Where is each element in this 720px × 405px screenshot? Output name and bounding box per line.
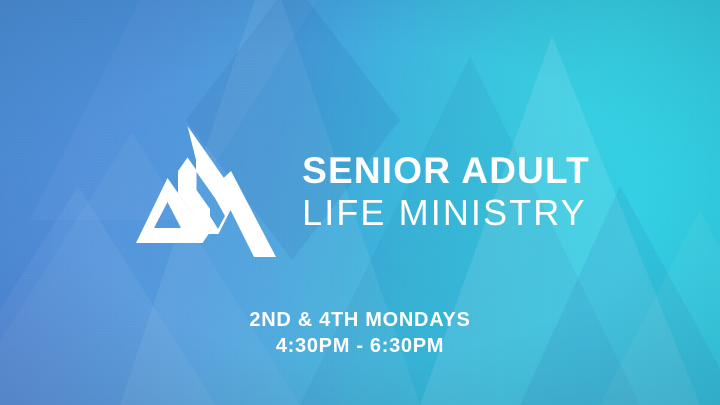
wordmark-line-life-ministry: LIFE MINISTRY: [302, 193, 590, 233]
logo-lockup: SENIOR ADULT LIFE MINISTRY: [0, 124, 720, 260]
schedule-time: 4:30PM - 6:30PM: [0, 334, 720, 360]
slide-content: SENIOR ADULT LIFE MINISTRY 2ND & 4TH MON…: [0, 0, 720, 405]
schedule-block: 2ND & 4TH MONDAYS 4:30PM - 6:30PM: [0, 308, 720, 359]
event-slide: SENIOR ADULT LIFE MINISTRY 2ND & 4TH MON…: [0, 0, 720, 405]
wordmark-line-senior-adult: SENIOR ADULT: [302, 152, 590, 190]
schedule-days: 2ND & 4TH MONDAYS: [0, 308, 720, 334]
sa-monogram-mountain-logo: [130, 124, 276, 260]
wordmark: SENIOR ADULT LIFE MINISTRY: [302, 150, 590, 233]
